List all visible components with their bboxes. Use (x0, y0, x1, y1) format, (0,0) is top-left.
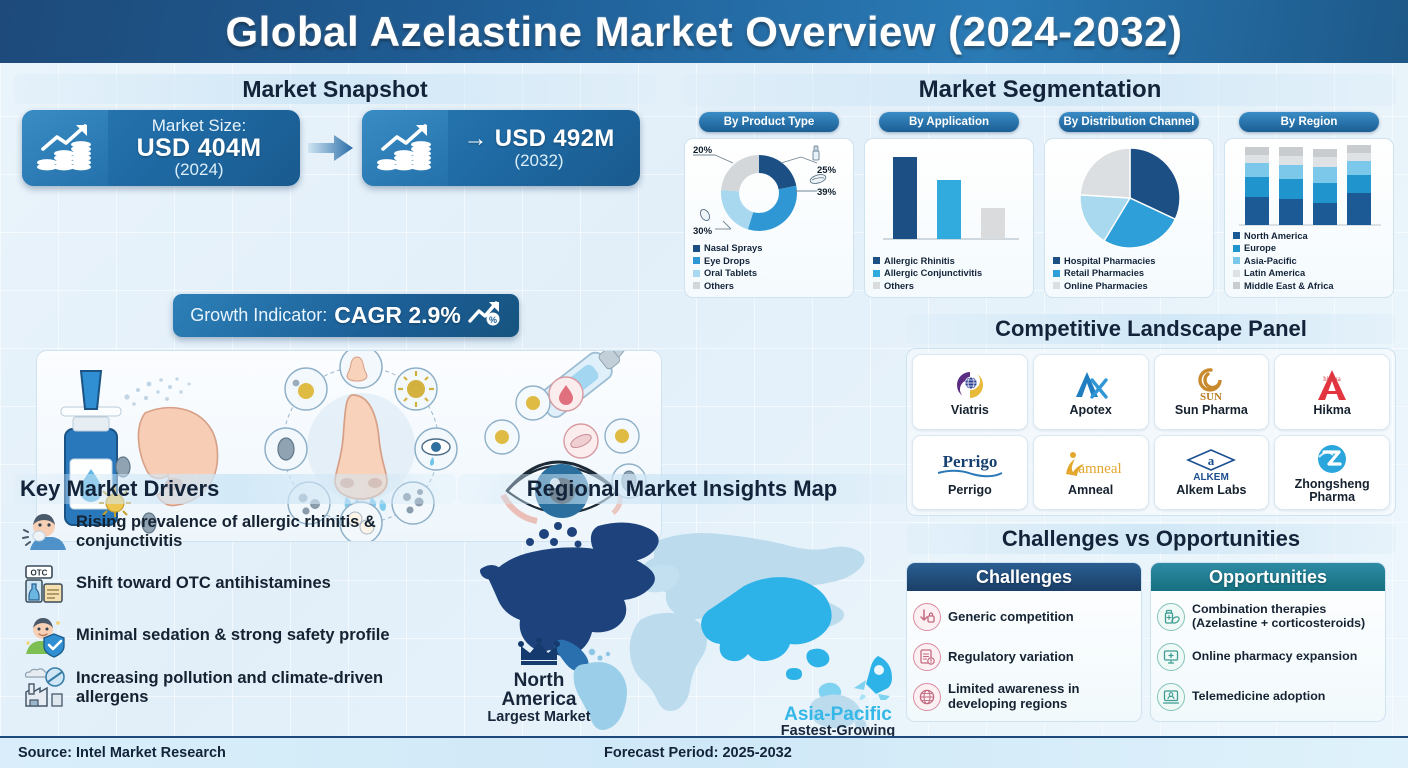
challenges-opportunities-title: Challenges vs Opportunities (906, 524, 1396, 554)
distribution-legend: Hospital Pharmacies Retail Pharmacies On… (1053, 255, 1155, 293)
legend-label: Nasal Sprays (704, 242, 762, 255)
legend-item: Oral Tablets (693, 267, 762, 280)
page-title: Global Azelastine Market Overview (2024-… (225, 8, 1182, 56)
market-size-2032-value: → USD 492M (448, 126, 630, 151)
market-size-2024-year: (2024) (108, 161, 290, 179)
svg-text:OTC: OTC (31, 569, 48, 578)
legend-label: North America (1244, 230, 1308, 243)
svg-text:a: a (1208, 453, 1215, 468)
competitor-card-viatris[interactable]: Viatris (912, 354, 1028, 430)
svg-text:30%: 30% (693, 226, 713, 237)
legend-label: Allergic Rhinitis (884, 255, 955, 268)
market-snapshot-section: Market Snapshot Market Size: USD 404M (2… (14, 74, 656, 470)
segment-pill-region[interactable]: By Region (1239, 112, 1379, 132)
opportunities-list: Combination therapies (Azelastine + cort… (1151, 591, 1385, 721)
challenge-item: Limited awareness in developing regions (913, 677, 1135, 717)
competitor-name: Viatris (951, 404, 989, 417)
application-bar-chart: Allergic Rhinitis Allergic Conjunctiviti… (864, 138, 1034, 298)
opportunity-label: Combination therapies (Azelastine + cort… (1192, 603, 1379, 631)
legend-swatch (693, 245, 700, 252)
legend-item: North America (1233, 230, 1334, 243)
svg-text:amneal: amneal (1078, 461, 1121, 477)
product-type-donut-chart: 20% 25% 39% 30% (684, 138, 854, 298)
competitor-card-apotex[interactable]: Apotex (1033, 354, 1149, 430)
legend-label: Asia-Pacific (1244, 255, 1297, 268)
competitor-name: Sun Pharma (1175, 404, 1248, 417)
competitor-card-sun-pharma[interactable]: SUN Sun Pharma (1154, 354, 1270, 430)
legend-item: Allergic Rhinitis (873, 255, 982, 268)
sneezing-person-icon (22, 510, 66, 554)
legend-swatch (873, 282, 880, 289)
segment-panel-region: By Region North America Europe Asia-P (1224, 112, 1394, 298)
map-label-north-america: North America Largest Market (480, 638, 598, 725)
challenge-label: Limited awareness in developing regions (948, 682, 1135, 711)
legend-label: Others (884, 280, 914, 293)
legend-label: Retail Pharmacies (1064, 267, 1144, 280)
driver-label: Minimal sedation & strong safety profile (76, 626, 390, 645)
market-size-row: Market Size: USD 404M (2024) (22, 110, 656, 186)
svg-text:20%: 20% (693, 145, 713, 156)
driver-item: Minimal sedation & strong safety profile (14, 612, 456, 660)
footer-forecast-period: Forecast Period: 2025-2032 (604, 745, 792, 761)
legend-item: Allergic Conjunctivitis (873, 267, 982, 280)
legend-swatch (873, 270, 880, 277)
market-segmentation-title: Market Segmentation (684, 74, 1396, 106)
market-size-label: Market Size: (108, 117, 290, 135)
online-pharmacy-icon (1157, 643, 1185, 671)
opportunities-card: Opportunities Combination therapies (Aze… (1150, 562, 1386, 722)
price-drop-icon (913, 603, 941, 631)
market-size-2032-text: → USD 492M (2032) (448, 126, 630, 169)
market-size-2024-card: Market Size: USD 404M (2024) (22, 110, 300, 186)
segment-pill-distribution[interactable]: By Distribution Channel (1059, 112, 1199, 132)
market-snapshot-title: Market Snapshot (14, 74, 656, 104)
nasal-spray-icon (813, 146, 819, 160)
map-region-line1: North America (480, 671, 598, 711)
legend-item: Middle East & Africa (1233, 280, 1334, 293)
legend-label: Allergic Conjunctivitis (884, 267, 982, 280)
legend-swatch (1233, 245, 1240, 252)
svg-text:39%: 39% (817, 187, 837, 198)
viatris-logo-icon (953, 367, 987, 403)
legend-label: Online Pharmacies (1064, 280, 1148, 293)
competitor-name: Perrigo (948, 484, 992, 497)
market-size-2024-text: Market Size: USD 404M (2024) (108, 117, 290, 179)
crown-icon (517, 653, 561, 670)
driver-item: OTC Shift toward OTC antihistamines (14, 560, 456, 608)
legend-label: Eye Drops (704, 255, 750, 268)
legend-swatch (1053, 257, 1060, 264)
legend-label: Hospital Pharmacies (1064, 255, 1155, 268)
legend-label: Middle East & Africa (1244, 280, 1334, 293)
segment-panel-product-type: By Product Type (684, 112, 854, 298)
segmentation-panels: By Product Type (684, 112, 1396, 298)
svg-text:SUN: SUN (1200, 391, 1222, 402)
legend-item: Nasal Sprays (693, 242, 762, 255)
eye-drop-icon (699, 208, 712, 222)
factory-pollution-icon (22, 666, 66, 710)
legend-item: Asia-Pacific (1233, 255, 1334, 268)
amneal-logo-icon: amneal (1052, 447, 1130, 483)
market-size-2024-value: USD 404M (108, 135, 290, 161)
competitive-landscape-section: Competitive Landscape Panel Viatris Ap (906, 314, 1396, 516)
product-type-legend: Nasal Sprays Eye Drops Oral Tablets Othe… (693, 242, 762, 292)
competitor-name: Apotex (1069, 404, 1111, 417)
legend-swatch (1233, 270, 1240, 277)
alkem-logo-icon: a ALKEM (1182, 447, 1240, 483)
legend-label: Oral Tablets (704, 267, 757, 280)
segment-pill-application[interactable]: By Application (879, 112, 1019, 132)
world-map: North America Largest Market Asia-Pacifi… (458, 508, 906, 736)
safety-shield-person-icon (22, 614, 66, 658)
challenges-card: Challenges Generic competition Regulator… (906, 562, 1142, 722)
regional-map-title: Regional Market Insights Map (458, 474, 906, 504)
opportunity-label: Telemedicine adoption (1192, 690, 1325, 704)
competitor-card-perrigo[interactable]: Perrigo Perrigo (912, 435, 1028, 511)
challenge-item: Generic competition (913, 597, 1135, 637)
zhongsheng-logo-icon (1315, 441, 1349, 477)
challenge-item: Regulatory variation (913, 637, 1135, 677)
market-size-2032-card: → USD 492M (2032) (362, 110, 640, 186)
segment-panel-application: By Application Allergic Rhinitis Allergi… (864, 112, 1034, 298)
legend-item: Online Pharmacies (1053, 280, 1155, 293)
region-legend: North America Europe Asia-Pacific Latin … (1233, 230, 1334, 293)
driver-label: Increasing pollution and climate-driven … (76, 669, 456, 707)
page-footer: Source: Intel Market Research Forecast P… (0, 736, 1408, 768)
legend-label: Europe (1244, 242, 1276, 255)
page-header: Global Azelastine Market Overview (2024-… (0, 0, 1408, 63)
driver-label: Rising prevalence of allergic rhinitis &… (76, 513, 456, 551)
apotex-logo-icon (1073, 367, 1109, 403)
growth-percent-icon: % (468, 300, 502, 331)
growth-coins-icon (362, 110, 448, 186)
driver-item: Increasing pollution and climate-driven … (14, 664, 456, 712)
legend-swatch (1053, 282, 1060, 289)
opportunity-label: Online pharmacy expansion (1192, 650, 1357, 664)
svg-text:%: % (489, 315, 497, 325)
legend-swatch (693, 270, 700, 277)
competitor-name: Amneal (1068, 484, 1113, 497)
pill-bottle-icon (1157, 603, 1185, 631)
right-arrow-icon (300, 134, 362, 162)
challenge-label: Generic competition (948, 610, 1074, 625)
market-segmentation-section: Market Segmentation By Product Type (684, 74, 1396, 309)
competitor-card-hikma[interactable]: hikma Hikma (1274, 354, 1390, 430)
telemedicine-icon (1157, 683, 1185, 711)
key-market-drivers-title: Key Market Drivers (14, 474, 456, 504)
legend-item: Latin America (1233, 267, 1334, 280)
globe-question-icon (913, 683, 941, 711)
challenges-heading: Challenges (907, 563, 1141, 591)
growth-indicator-value: CAGR 2.9% (334, 302, 461, 329)
growth-indicator-label: Growth Indicator: (190, 305, 327, 326)
legend-item: Others (873, 280, 982, 293)
svg-text:hikma: hikma (1323, 375, 1341, 383)
competitor-name: Alkem Labs (1176, 484, 1246, 497)
hikma-logo-icon: hikma (1310, 367, 1354, 403)
competitive-landscape-title: Competitive Landscape Panel (906, 314, 1396, 344)
legend-swatch (693, 282, 700, 289)
sun-pharma-logo-icon: SUN (1190, 367, 1232, 403)
growth-indicator-badge: Growth Indicator: CAGR 2.9% % (173, 294, 519, 337)
otc-box-icon: OTC (22, 562, 66, 606)
challenges-opportunities-row: Challenges Generic competition Regulator… (906, 562, 1396, 722)
legend-label: Others (704, 280, 734, 293)
legend-swatch (1053, 270, 1060, 277)
legend-swatch (1233, 257, 1240, 264)
competitor-name: Zhongsheng Pharma (1275, 478, 1389, 505)
distribution-pie-chart: Hospital Pharmacies Retail Pharmacies On… (1044, 138, 1214, 298)
legend-item: Others (693, 280, 762, 293)
application-legend: Allergic Rhinitis Allergic Conjunctiviti… (873, 255, 982, 293)
legend-swatch (873, 257, 880, 264)
map-region-line2: Largest Market (480, 710, 598, 725)
growth-coins-icon (22, 110, 108, 186)
market-size-2032-year: (2032) (448, 152, 630, 170)
driver-label: Shift toward OTC antihistamines (76, 574, 331, 593)
legend-item: Europe (1233, 242, 1334, 255)
segment-pill-product-type[interactable]: By Product Type (699, 112, 839, 132)
legend-swatch (1233, 282, 1240, 289)
competitor-card-amneal[interactable]: amneal Amneal (1033, 435, 1149, 511)
legend-item: Hospital Pharmacies (1053, 255, 1155, 268)
opportunities-heading: Opportunities (1151, 563, 1385, 591)
challenges-list: Generic competition Regulatory variation… (907, 591, 1141, 721)
legend-swatch (1233, 232, 1240, 239)
footer-source: Source: Intel Market Research (18, 745, 226, 761)
legend-label: Latin America (1244, 267, 1305, 280)
key-market-drivers-section: Key Market Drivers Rising prevalence of … (14, 474, 456, 736)
competitor-grid: Viatris Apotex SUN Sun Pharma (906, 348, 1396, 516)
legend-swatch (693, 257, 700, 264)
rocket-icon (776, 654, 900, 705)
region-stacked-bar-chart: North America Europe Asia-Pacific Latin … (1224, 138, 1394, 298)
driver-item: Rising prevalence of allergic rhinitis &… (14, 508, 456, 556)
opportunity-item: Online pharmacy expansion (1157, 637, 1379, 677)
opportunity-item: Combination therapies (Azelastine + cort… (1157, 597, 1379, 637)
competitor-card-zhongsheng[interactable]: Zhongsheng Pharma (1274, 435, 1390, 511)
perrigo-logo-icon: Perrigo (932, 447, 1008, 483)
svg-text:Perrigo: Perrigo (943, 452, 998, 471)
challenge-label: Regulatory variation (948, 650, 1074, 665)
opportunity-item: Telemedicine adoption (1157, 677, 1379, 717)
map-region-line1: Asia-Pacific (776, 705, 900, 725)
competitor-name: Hikma (1313, 404, 1351, 417)
legend-item: Retail Pharmacies (1053, 267, 1155, 280)
legend-item: Eye Drops (693, 255, 762, 268)
document-warning-icon (913, 643, 941, 671)
tablet-icon (809, 173, 827, 185)
svg-text:ALKEM: ALKEM (1194, 472, 1230, 482)
competitor-card-alkem[interactable]: a ALKEM Alkem Labs (1154, 435, 1270, 511)
regional-map-section: Regional Market Insights Map (458, 474, 906, 736)
segment-panel-distribution: By Distribution Channel Hospit (1044, 112, 1214, 298)
challenges-opportunities-section: Challenges vs Opportunities Challenges G… (906, 524, 1396, 732)
